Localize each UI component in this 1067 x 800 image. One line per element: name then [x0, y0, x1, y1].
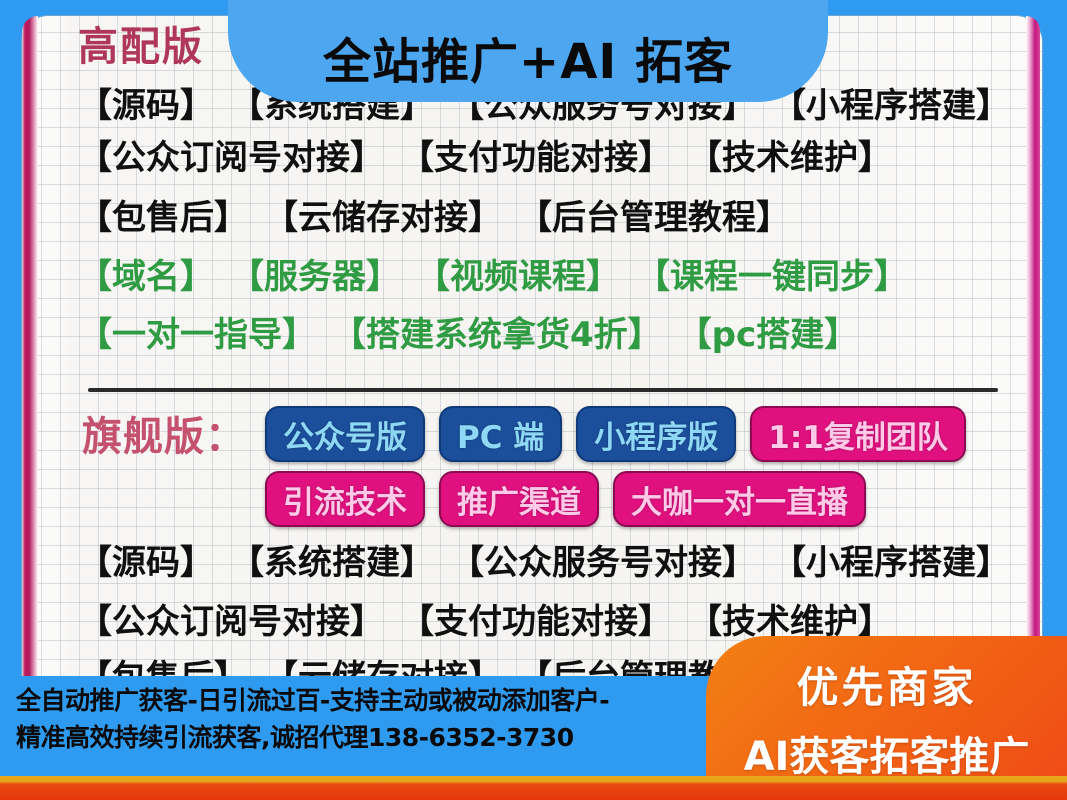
feature-token: 【pc搭建】 — [678, 307, 859, 356]
feature-token: 【域名】 — [78, 249, 214, 298]
feature-token: 【视频课程】 — [416, 249, 620, 298]
bottom-banner-line-1: 全自动推广获客-日引流过百-支持主动或被动添加客户- — [16, 681, 609, 717]
feature-token: 【包售后】 — [78, 190, 248, 239]
feature-token: 【公众服务号对接】 — [450, 535, 756, 584]
section-heading-high-config: 高配版 — [78, 14, 204, 72]
feature-row-high-3: 【包售后】【云储存对接】【后台管理教程】 — [78, 190, 806, 239]
feature-row-high-5-green: 【一对一指导】【搭建系统拿货4折】【pc搭建】 — [78, 307, 874, 356]
feature-token: 【源码】 — [78, 78, 214, 127]
pill-miniprogram-version[interactable]: 小程序版 — [576, 406, 736, 462]
feature-token: 【公众订阅号对接】 — [78, 130, 384, 179]
pill-public-account-version[interactable]: 公众号版 — [265, 406, 425, 462]
feature-token: 【一对一指导】 — [78, 307, 316, 356]
pill-expert-live-stream[interactable]: 大咖一对一直播 — [613, 471, 866, 527]
feature-token: 【支付功能对接】 — [400, 130, 672, 179]
top-banner-title: 全站推广+AI 拓客 — [323, 22, 733, 92]
section-divider — [88, 388, 998, 392]
flagship-pill-row-1: 公众号版 PC 端 小程序版 1:1复制团队 — [265, 406, 966, 462]
badge-line-1: 优先商家 — [706, 654, 1067, 715]
bottom-color-strip — [0, 776, 1067, 800]
pill-traffic-technique[interactable]: 引流技术 — [265, 471, 425, 527]
feature-token: 【系统搭建】 — [230, 535, 434, 584]
pill-one-to-one-team-copy[interactable]: 1:1复制团队 — [750, 406, 966, 462]
feature-token: 【公众订阅号对接】 — [78, 594, 384, 643]
feature-row-high-2: 【公众订阅号对接】【支付功能对接】【技术维护】 — [78, 130, 908, 179]
feature-token: 【后台管理教程】 — [518, 190, 790, 239]
feature-token: 【小程序搭建】 — [772, 535, 1010, 584]
pill-pc-client[interactable]: PC 端 — [439, 406, 562, 462]
feature-row-flagship-1: 【源码】【系统搭建】【公众服务号对接】【小程序搭建】 — [78, 535, 1026, 584]
feature-token: 【小程序搭建】 — [772, 78, 1010, 127]
feature-token: 【课程一键同步】 — [636, 249, 908, 298]
feature-token: 【服务器】 — [230, 249, 400, 298]
feature-token: 【支付功能对接】 — [400, 594, 672, 643]
flagship-pill-row-2: 引流技术 推广渠道 大咖一对一直播 — [265, 471, 866, 527]
pill-promotion-channel[interactable]: 推广渠道 — [439, 471, 599, 527]
badge-line-2: AI获客拓客推广 — [706, 724, 1067, 782]
top-banner: 全站推广+AI 拓客 — [228, 0, 828, 102]
feature-token: 【源码】 — [78, 535, 214, 584]
bottom-banner-line-2: 精准高效持续引流获客,诚招代理138-6352-3730 — [16, 718, 574, 754]
section-heading-flagship: 旗舰版： — [82, 404, 246, 462]
feature-row-high-4-green: 【域名】【服务器】【视频课程】【课程一键同步】 — [78, 249, 924, 298]
feature-token: 【云储存对接】 — [264, 190, 502, 239]
feature-token: 【搭建系统拿货4折】 — [332, 307, 662, 356]
feature-token: 【技术维护】 — [688, 130, 892, 179]
paper-spine-left — [22, 16, 38, 774]
